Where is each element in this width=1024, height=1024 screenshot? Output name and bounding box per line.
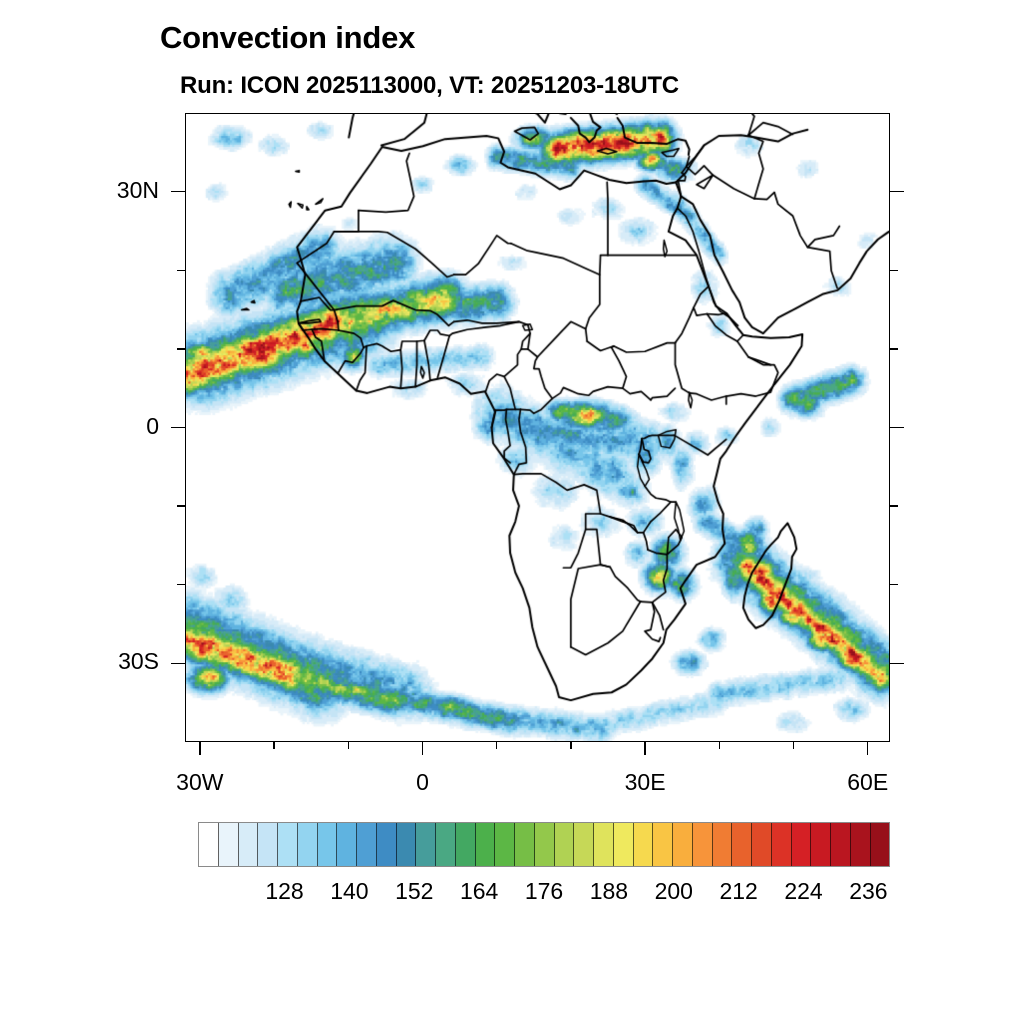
colorbar-segment bbox=[495, 823, 515, 866]
colorbar-segment bbox=[594, 823, 614, 866]
colorbar-tick-label: 140 bbox=[330, 878, 368, 905]
colorbar-tick-label: 176 bbox=[525, 878, 563, 905]
colorbar-segment bbox=[298, 823, 318, 866]
y-major-tick bbox=[171, 427, 185, 428]
colorbar-segment bbox=[219, 823, 239, 866]
colorbar-tick-label: 212 bbox=[719, 878, 757, 905]
y-major-tick-right bbox=[890, 191, 904, 192]
colorbar-segment bbox=[673, 823, 693, 866]
colorbar-segment bbox=[792, 823, 812, 866]
colorbar-segment bbox=[357, 823, 377, 866]
x-minor-tick bbox=[719, 742, 720, 749]
colorbar-segment bbox=[397, 823, 417, 866]
colorbar-segment bbox=[693, 823, 713, 866]
colorbar-segment bbox=[851, 823, 871, 866]
colorbar-segment bbox=[436, 823, 456, 866]
colorbar-segment bbox=[634, 823, 654, 866]
colorbar-segment bbox=[811, 823, 831, 866]
colorbar-tick-labels: 128140152164176188200212224236 bbox=[198, 878, 890, 910]
y-major-tick-right bbox=[890, 663, 904, 664]
colorbar-segment bbox=[614, 823, 634, 866]
colorbar-segment bbox=[416, 823, 436, 866]
y-minor-tick bbox=[177, 584, 185, 585]
colorbar-segment bbox=[476, 823, 496, 866]
y-minor-tick-right bbox=[890, 584, 898, 585]
x-major-tick bbox=[422, 742, 423, 755]
colorbar-segment bbox=[456, 823, 476, 866]
y-major-tick-right bbox=[890, 427, 904, 428]
x-axis-label: 60E bbox=[818, 769, 918, 796]
y-major-tick bbox=[171, 663, 185, 664]
colorbar-segment bbox=[752, 823, 772, 866]
colorbar-segment bbox=[871, 823, 890, 866]
colorbar[interactable] bbox=[198, 822, 890, 867]
colorbar-segment bbox=[258, 823, 278, 866]
colorbar-segments bbox=[198, 822, 890, 867]
colorbar-tick-label: 128 bbox=[265, 878, 303, 905]
colorbar-tick-label: 224 bbox=[784, 878, 822, 905]
x-minor-tick bbox=[273, 742, 274, 749]
y-axis-label: 0 bbox=[89, 413, 159, 440]
colorbar-tick-label: 152 bbox=[395, 878, 433, 905]
y-minor-tick bbox=[177, 270, 185, 271]
y-minor-tick-right bbox=[890, 505, 898, 506]
colorbar-segment bbox=[653, 823, 673, 866]
x-axis-label: 30W bbox=[150, 769, 250, 796]
y-minor-tick-right bbox=[890, 270, 898, 271]
x-minor-tick bbox=[793, 742, 794, 749]
x-major-tick bbox=[644, 742, 645, 755]
x-axis-label: 30E bbox=[595, 769, 695, 796]
x-axis-label: 0 bbox=[372, 769, 472, 796]
colorbar-segment bbox=[732, 823, 752, 866]
convection-index-map bbox=[186, 114, 889, 741]
colorbar-segment bbox=[199, 823, 219, 866]
x-minor-tick bbox=[570, 742, 571, 749]
y-axis-label: 30N bbox=[89, 177, 159, 204]
x-major-tick bbox=[199, 742, 200, 755]
colorbar-segment bbox=[377, 823, 397, 866]
y-axis-label: 30S bbox=[89, 648, 159, 675]
colorbar-segment bbox=[239, 823, 259, 866]
colorbar-tick-label: 236 bbox=[849, 878, 887, 905]
colorbar-segment bbox=[713, 823, 733, 866]
x-major-tick bbox=[867, 742, 868, 755]
colorbar-segment bbox=[318, 823, 338, 866]
y-minor-tick-right bbox=[890, 348, 898, 349]
colorbar-segment bbox=[574, 823, 594, 866]
x-minor-tick bbox=[348, 742, 349, 749]
map-plot-area[interactable] bbox=[185, 113, 890, 742]
x-minor-tick bbox=[496, 742, 497, 749]
colorbar-segment bbox=[535, 823, 555, 866]
y-major-tick bbox=[171, 191, 185, 192]
colorbar-segment bbox=[831, 823, 851, 866]
run-valid-time-subtitle: Run: ICON 2025113000, VT: 20251203-18UTC bbox=[180, 72, 679, 100]
colorbar-tick-label: 200 bbox=[655, 878, 693, 905]
colorbar-segment bbox=[278, 823, 298, 866]
colorbar-segment bbox=[337, 823, 357, 866]
colorbar-tick-label: 188 bbox=[590, 878, 628, 905]
y-minor-tick bbox=[177, 505, 185, 506]
y-minor-tick bbox=[177, 348, 185, 349]
colorbar-segment bbox=[772, 823, 792, 866]
colorbar-segment bbox=[555, 823, 575, 866]
colorbar-segment bbox=[515, 823, 535, 866]
page-title: Convection index bbox=[160, 20, 415, 56]
colorbar-tick-label: 164 bbox=[460, 878, 498, 905]
